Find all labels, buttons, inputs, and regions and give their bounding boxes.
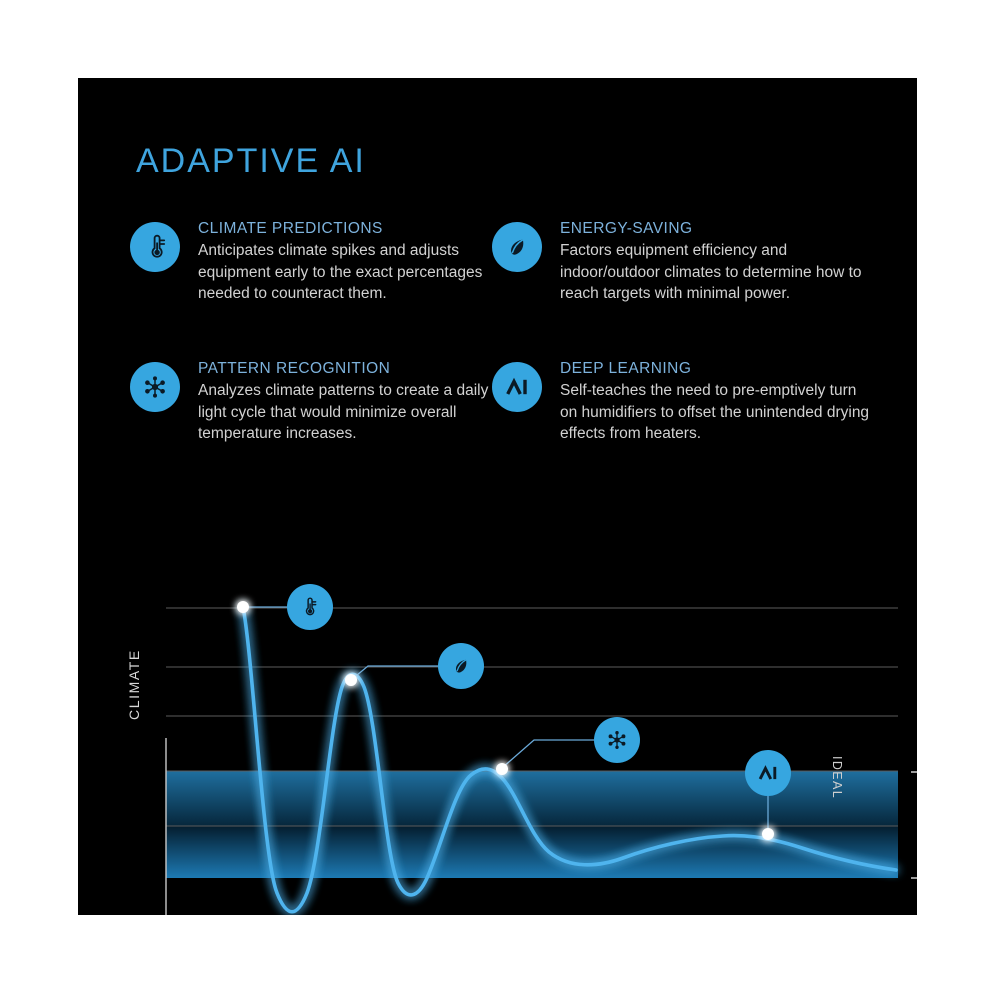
feature-energy-saving: ENERGY-SAVING Factors equipment efficien…	[492, 220, 872, 305]
feature-body: DEEP LEARNING Self-teaches the need to p…	[560, 360, 872, 445]
ideal-band	[166, 771, 898, 878]
feature-pattern-recognition: PATTERN RECOGNITION Analyzes climate pat…	[130, 360, 510, 445]
feature-heading: DEEP LEARNING	[560, 360, 872, 378]
feature-climate-predictions: CLIMATE PREDICTIONS Anticipates climate …	[130, 220, 510, 305]
feature-deep-learning: DEEP LEARNING Self-teaches the need to p…	[492, 360, 872, 445]
network-nodes-icon	[130, 362, 180, 412]
marker-dot-pattern[interactable]	[496, 763, 508, 775]
marker-dot-energy[interactable]	[345, 674, 357, 686]
chart-icon-network[interactable]	[594, 717, 640, 763]
feature-text: Analyzes climate patterns to create a da…	[198, 380, 510, 445]
feature-heading: PATTERN RECOGNITION	[198, 360, 510, 378]
feature-body: PATTERN RECOGNITION Analyzes climate pat…	[198, 360, 510, 445]
infographic-panel: ADAPTIVE AI CLIMATE PREDICTIONS Anticipa…	[78, 78, 917, 915]
feature-body: ENERGY-SAVING Factors equipment efficien…	[560, 220, 872, 305]
feature-body: CLIMATE PREDICTIONS Anticipates climate …	[198, 220, 510, 305]
marker-dot-deep-learning[interactable]	[762, 828, 774, 840]
chart-icon-ai[interactable]	[745, 750, 791, 796]
leaf-icon	[492, 222, 542, 272]
page-title: ADAPTIVE AI	[136, 142, 366, 181]
feature-heading: CLIMATE PREDICTIONS	[198, 220, 510, 238]
chart-icon-leaf[interactable]	[438, 643, 484, 689]
marker-dot-climate[interactable]	[237, 601, 249, 613]
ai-monogram-icon	[492, 362, 542, 412]
feature-heading: ENERGY-SAVING	[560, 220, 872, 238]
chart-icon-thermometer[interactable]	[287, 584, 333, 630]
ideal-bracket	[911, 772, 917, 878]
ideal-band-label: IDEAL	[830, 756, 844, 799]
climate-chart: CLIMATE TIME IDEAL	[78, 488, 917, 915]
feature-text: Anticipates climate spikes and adjusts e…	[198, 240, 510, 305]
feature-text: Factors equipment efficiency and indoor/…	[560, 240, 872, 305]
y-axis-label: CLIMATE	[126, 649, 142, 720]
thermometer-icon	[130, 222, 180, 272]
feature-text: Self-teaches the need to pre-emptively t…	[560, 380, 872, 445]
